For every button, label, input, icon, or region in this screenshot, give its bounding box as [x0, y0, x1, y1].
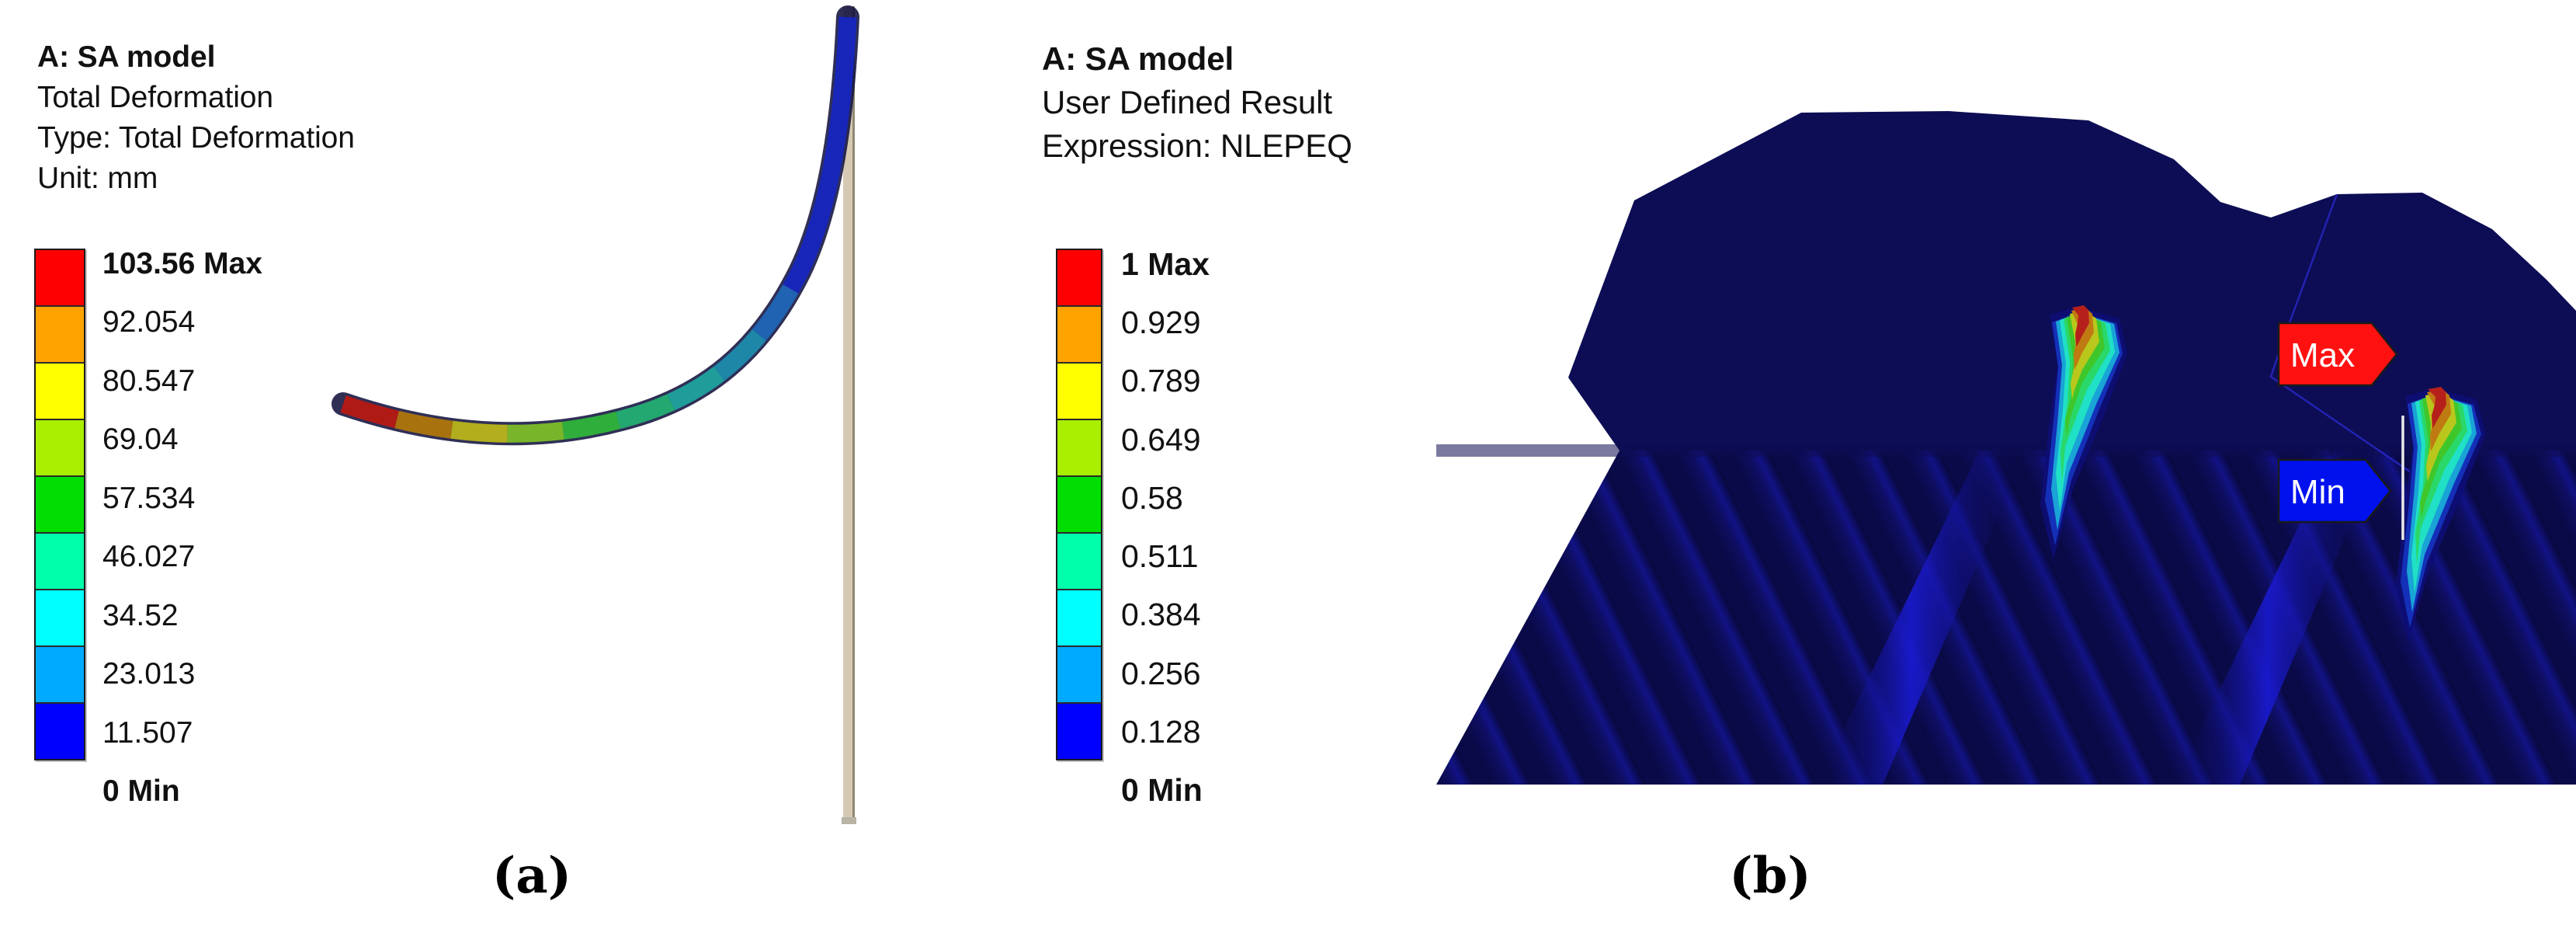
support-post-edge — [852, 6, 855, 823]
panel-b-title: A: SA model — [1042, 37, 1352, 81]
legend-band — [36, 534, 84, 590]
panel-b-legend-labels: 1 Max 0.929 0.789 0.649 0.58 0.511 0.384… — [1121, 249, 1210, 806]
beam-band-7 — [343, 17, 848, 433]
beam-band-6 — [343, 17, 848, 433]
legend-label: 0.384 — [1121, 599, 1210, 631]
legend-band — [36, 420, 84, 477]
legend-label: 11.507 — [102, 718, 262, 748]
panel-b-legend-colorbar — [1056, 249, 1102, 760]
panel-a-legend: 103.56 Max 92.054 80.547 69.04 57.534 46… — [34, 249, 262, 806]
legend-band — [1057, 477, 1101, 534]
legend-label: 0.128 — [1121, 716, 1210, 748]
beam-band-9 — [343, 17, 848, 433]
support-post-base — [842, 817, 856, 824]
caption-b: (b) — [1630, 847, 1910, 905]
panel-b-nlepeq: A: SA model User Defined Result Expressi… — [1033, 0, 2576, 839]
panel-b-legend: 1 Max 0.929 0.789 0.649 0.58 0.511 0.384… — [1056, 249, 1210, 806]
beam-band-2 — [343, 17, 848, 433]
legend-label: 0.511 — [1121, 541, 1210, 572]
legend-band — [36, 647, 84, 704]
legend-label: 69.04 — [102, 424, 262, 454]
panel-a-legend-labels: 103.56 Max 92.054 80.547 69.04 57.534 46… — [102, 249, 262, 806]
beam-shadow — [343, 17, 848, 433]
beam-band-5 — [343, 17, 848, 433]
legend-band — [1057, 534, 1101, 590]
min-tag-label: Min — [2290, 473, 2345, 511]
legend-band — [1057, 704, 1101, 759]
beam-band-3 — [343, 17, 848, 433]
beam-band-8 — [343, 17, 848, 433]
legend-band — [36, 307, 84, 364]
panel-b-viewport[interactable]: Max Min — [1436, 85, 2576, 785]
deformed-beam-group — [343, 17, 848, 433]
panel-b-contour-svg: Max Min — [1436, 85, 2576, 785]
legend-label: 80.547 — [102, 366, 262, 396]
legend-band — [1057, 590, 1101, 647]
legend-band — [36, 477, 84, 534]
legend-label: 92.054 — [102, 307, 262, 337]
legend-band — [36, 590, 84, 647]
figure-root: A: SA model Total Deformation Type: Tota… — [0, 0, 2576, 950]
beam-band-1 — [343, 17, 848, 433]
legend-label-max: 1 Max — [1121, 249, 1210, 280]
legend-band — [36, 704, 84, 759]
legend-label-max: 103.56 Max — [102, 249, 262, 279]
panel-a-total-deformation: A: SA model Total Deformation Type: Tota… — [0, 0, 1009, 839]
legend-label: 46.027 — [102, 541, 262, 572]
beam-band-10 — [343, 17, 848, 433]
legend-band — [36, 364, 84, 420]
legend-label: 0.789 — [1121, 365, 1210, 397]
legend-band — [1057, 647, 1101, 704]
legend-label: 0.256 — [1121, 658, 1210, 690]
component-body-group — [1436, 111, 2576, 785]
legend-band — [1057, 307, 1101, 364]
legend-band — [1057, 420, 1101, 477]
panel-b-result-expression: Expression: NLEPEQ — [1042, 124, 1352, 168]
caption-a: (a) — [392, 847, 672, 905]
max-tag-label: Max — [2290, 336, 2355, 374]
legend-label: 34.52 — [102, 600, 262, 631]
legend-label: 0.649 — [1121, 424, 1210, 456]
legend-band — [1057, 364, 1101, 420]
legend-band — [36, 250, 84, 307]
panel-b-result-header: A: SA model User Defined Result Expressi… — [1042, 37, 1352, 168]
beam-band-4 — [343, 17, 848, 433]
legend-label: 23.013 — [102, 659, 262, 689]
panel-a-legend-colorbar — [34, 249, 85, 760]
legend-label: 0.58 — [1121, 482, 1210, 514]
legend-label: 0.929 — [1121, 307, 1210, 339]
beam-bands — [343, 17, 848, 433]
panel-a-viewport[interactable] — [295, 0, 1009, 839]
panel-b-result-name: User Defined Result — [1042, 81, 1352, 124]
legend-label: 57.534 — [102, 483, 262, 513]
max-annotation-tag[interactable]: Max — [2279, 323, 2397, 385]
min-annotation-tag[interactable]: Min — [2279, 460, 2390, 522]
panel-a-contour-svg — [295, 0, 1009, 839]
legend-band — [1057, 250, 1101, 307]
legend-label-min: 0 Min — [102, 776, 262, 806]
legend-label-min: 0 Min — [1121, 774, 1210, 806]
